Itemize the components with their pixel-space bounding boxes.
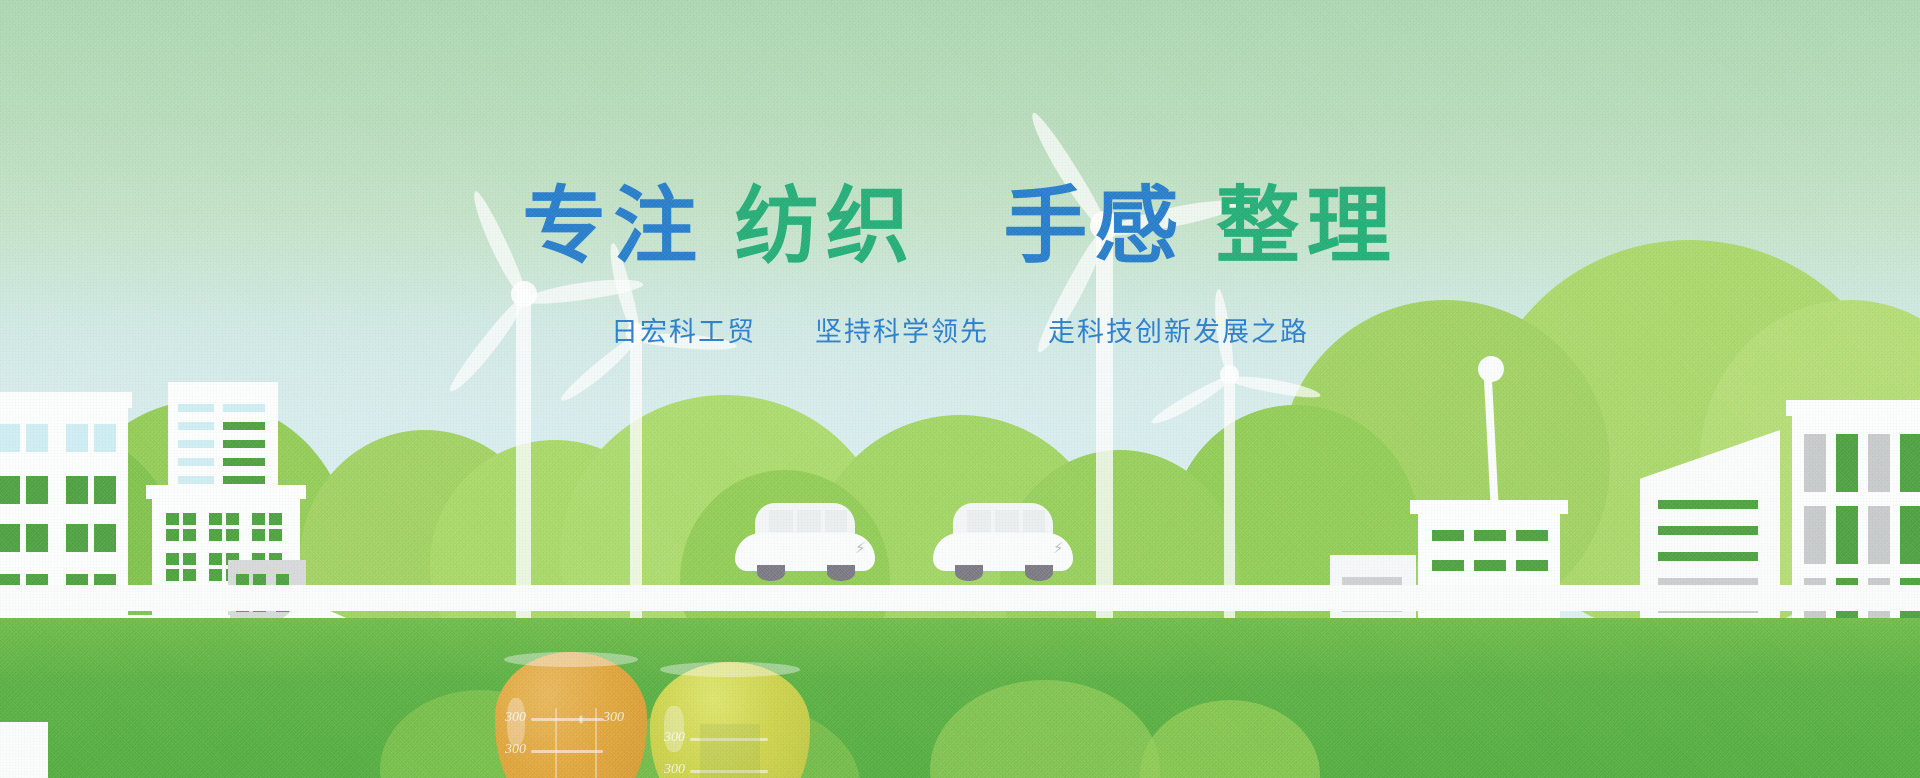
yellow-beaker-grad-2: 300 bbox=[664, 762, 685, 778]
scene-artwork-layer: ⚡ ⚡ 300 300 300 bbox=[0, 0, 1920, 778]
building-right-antenna-ball bbox=[1478, 356, 1504, 382]
yellow-beaker-grad-1: 300 bbox=[664, 730, 685, 746]
orange-beaker-grad-3: 300 bbox=[603, 710, 624, 726]
subtitle-part-2: 坚持科学领先 bbox=[815, 317, 989, 347]
subtitle-part-1: 日宏科工贸 bbox=[611, 317, 756, 347]
headline-segment-3: 手感 bbox=[1003, 179, 1185, 273]
subtitle-part-3: 走科技创新发展之路 bbox=[1048, 317, 1309, 347]
yellow-beaker: 300 300 bbox=[650, 662, 810, 778]
electric-car-right: ⚡ bbox=[933, 503, 1073, 585]
banner-subtitle: 日宏科工贸 坚持科学领先 走科技创新发展之路 bbox=[0, 310, 1920, 349]
orange-beaker: 300 300 300 bbox=[495, 652, 647, 778]
hero-banner: ⚡ ⚡ 300 300 300 bbox=[0, 0, 1920, 778]
electric-car-left: ⚡ bbox=[735, 503, 875, 585]
orange-beaker-grad-1: 300 bbox=[505, 710, 526, 726]
electric-bolt-icon-left: ⚡ bbox=[855, 541, 866, 556]
electric-bolt-icon-right: ⚡ bbox=[1053, 541, 1064, 556]
headline-segment-4: 整理 bbox=[1216, 179, 1398, 273]
road-strip bbox=[0, 585, 1920, 611]
wind-turbine-center bbox=[560, 300, 750, 630]
banner-headline: 专注 纺织 手感 整理 bbox=[0, 184, 1920, 268]
orange-beaker-grad-2: 300 bbox=[505, 742, 526, 758]
headline-segment-1: 专注 bbox=[522, 179, 704, 273]
white-plinth-left bbox=[0, 722, 48, 778]
wind-turbine-far-right bbox=[1160, 345, 1330, 665]
headline-segment-2: 纺织 bbox=[735, 179, 917, 273]
